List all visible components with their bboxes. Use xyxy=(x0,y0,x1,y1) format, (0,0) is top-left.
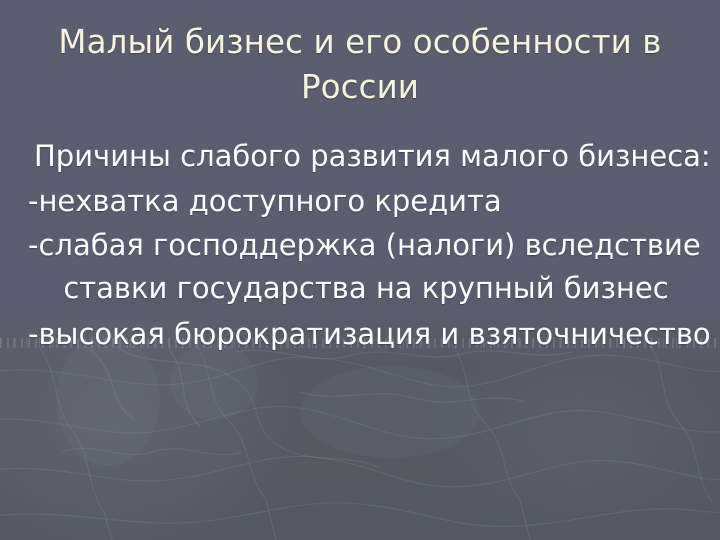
slide-title: Малый бизнес и его особенности в России xyxy=(24,20,696,110)
bullet-item-1: -нехватка доступного кредита xyxy=(28,179,704,224)
background-glow-right xyxy=(420,330,720,540)
presentation-slide: Малый бизнес и его особенности в России … xyxy=(0,0,720,540)
slide-body: Причины слабого развития малого бизнеса:… xyxy=(28,134,704,356)
bullet-item-2: -слабая господдержка (налоги) вследствие xyxy=(28,223,704,268)
body-lead-line: Причины слабого развития малого бизнеса: xyxy=(28,134,704,179)
bullet-item-3: -высокая бюрократизация и взяточничество xyxy=(28,312,704,357)
bullet-item-2-continuation: ставки государства на крупный бизнес xyxy=(28,268,704,308)
